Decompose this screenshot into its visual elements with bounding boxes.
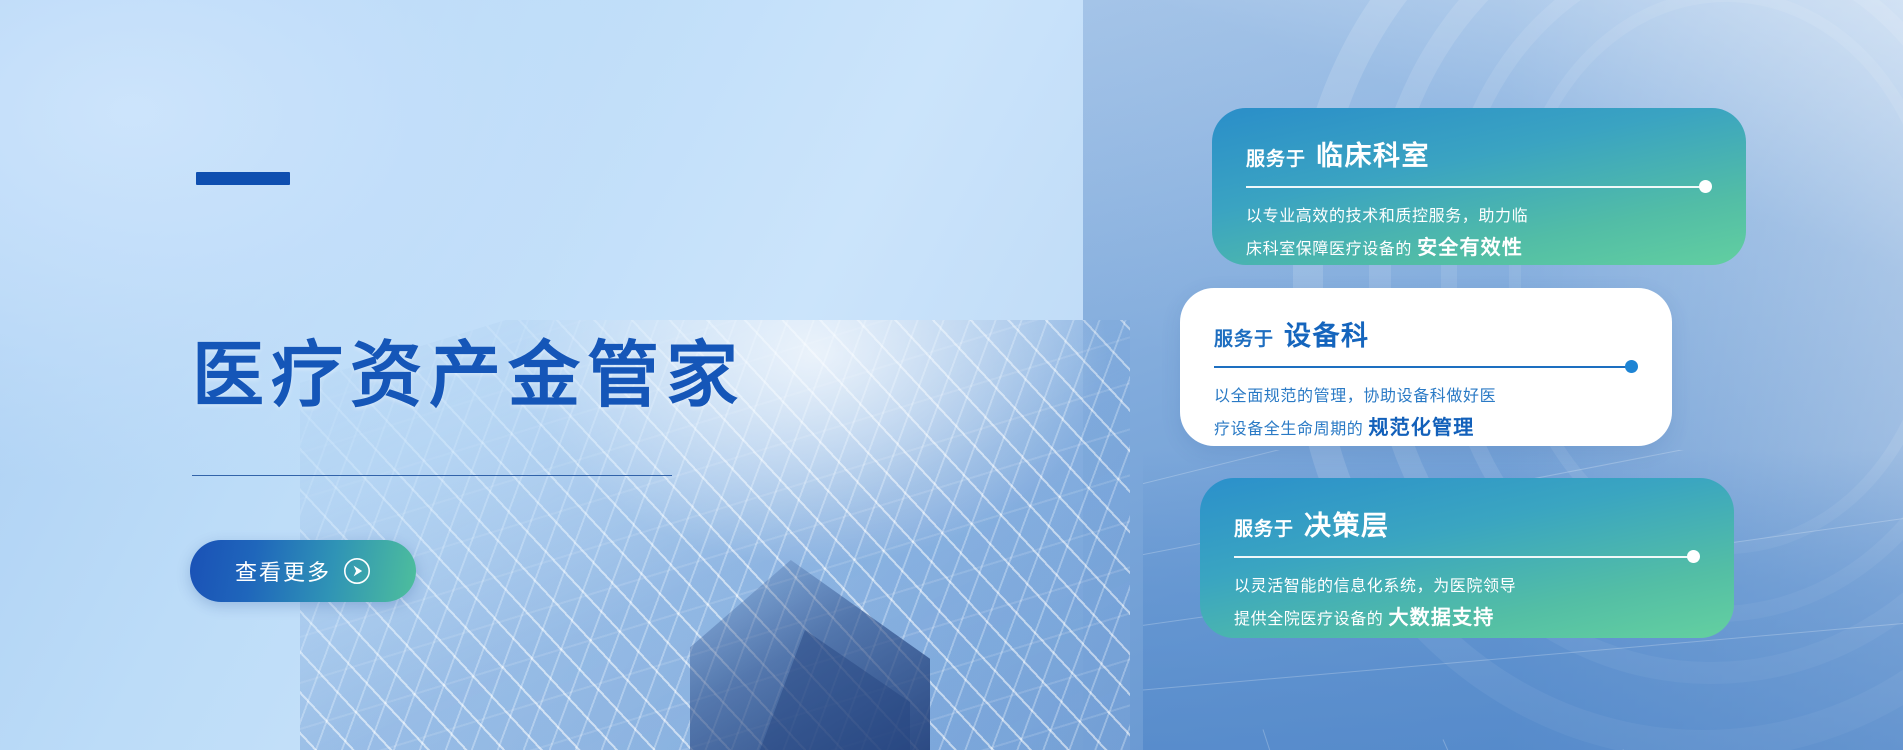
card-body-line2: 提供全院医疗设备的 (1234, 611, 1383, 628)
card-body-line1: 以全面规范的管理，协助设备科做好医 (1214, 388, 1496, 405)
card-heading-prefix: 服务于 (1246, 144, 1306, 171)
card-heading: 服务于 决策层 (1234, 504, 1700, 543)
card-heading-prefix: 服务于 (1214, 324, 1274, 351)
card-body-line2: 床科室保障医疗设备的 (1246, 241, 1412, 258)
service-card-clinical[interactable]: 服务于 临床科室 以专业高效的技术和质控服务，助力临 床科室保障医疗设备的 安全… (1212, 108, 1746, 265)
card-body-line2: 疗设备全生命周期的 (1214, 421, 1363, 438)
card-divider (1234, 547, 1700, 567)
slider-dot-icon (1687, 550, 1700, 563)
card-body: 以全面规范的管理，协助设备科做好医 疗设备全生命周期的 规范化管理 (1214, 383, 1638, 445)
card-body-line1: 以灵活智能的信息化系统，为医院领导 (1234, 578, 1516, 595)
card-heading-prefix: 服务于 (1234, 514, 1294, 541)
card-body-highlight: 安全有效性 (1417, 237, 1523, 259)
card-heading-target: 临床科室 (1316, 134, 1430, 173)
card-body: 以灵活智能的信息化系统，为医院领导 提供全院医疗设备的 大数据支持 (1234, 573, 1700, 635)
service-card-list: 服务于 临床科室 以专业高效的技术和质控服务，助力临 床科室保障医疗设备的 安全… (0, 0, 1903, 750)
card-heading-target: 决策层 (1304, 504, 1390, 543)
card-body: 以专业高效的技术和质控服务，助力临 床科室保障医疗设备的 安全有效性 (1246, 203, 1712, 265)
slider-dot-icon (1625, 360, 1638, 373)
slider-dot-icon (1699, 180, 1712, 193)
card-heading: 服务于 临床科室 (1246, 134, 1712, 173)
card-divider-line (1214, 366, 1626, 368)
card-heading: 服务于 设备科 (1214, 314, 1638, 353)
card-body-highlight: 大数据支持 (1388, 607, 1494, 629)
card-divider (1214, 357, 1638, 377)
service-card-decision[interactable]: 服务于 决策层 以灵活智能的信息化系统，为医院领导 提供全院医疗设备的 大数据支… (1200, 478, 1734, 638)
card-heading-target: 设备科 (1284, 314, 1370, 353)
card-divider (1246, 177, 1712, 197)
card-body-line1: 以专业高效的技术和质控服务，助力临 (1246, 208, 1528, 225)
service-card-equipment[interactable]: 服务于 设备科 以全面规范的管理，协助设备科做好医 疗设备全生命周期的 规范化管… (1180, 288, 1672, 446)
hero-banner: 医疗资产金管家 查看更多 服务于 临床科室 以专业高效的技术和质控服务，助力临 (0, 0, 1903, 750)
card-body-highlight: 规范化管理 (1368, 417, 1474, 439)
card-divider-line (1234, 556, 1688, 558)
card-divider-line (1246, 186, 1700, 188)
